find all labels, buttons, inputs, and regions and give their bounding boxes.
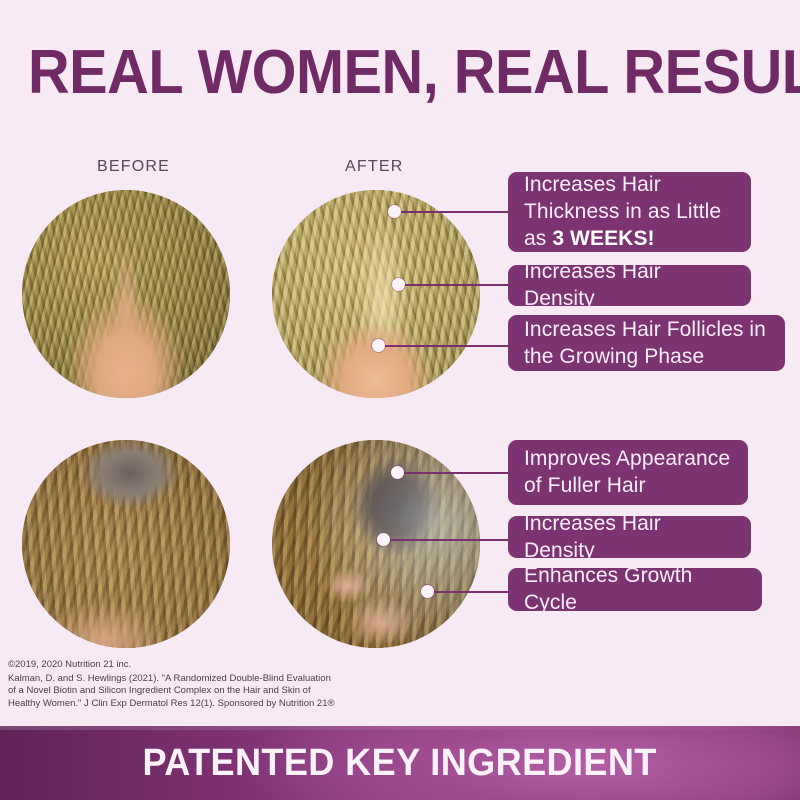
page-title: REAL WOMEN, REAL RESULTS! bbox=[28, 40, 772, 106]
callout-bottom-1[interactable]: Improves Appearance of Fuller Hair bbox=[508, 440, 748, 505]
hair-texture bbox=[22, 190, 230, 398]
footnote-line-2: Kalman, D. and S. Hewlings (2021). "A Ra… bbox=[8, 673, 428, 686]
footnote-line-4: Healthy Women." J Clin Exp Dermatol Res … bbox=[8, 698, 428, 711]
footnote-line-3: of a Novel Biotin and Silicon Ingredient… bbox=[8, 685, 428, 698]
connector-line-1 bbox=[396, 211, 510, 213]
hair-texture bbox=[22, 440, 230, 648]
footnote-citation: ©2019, 2020 Nutrition 21 inc. Kalman, D.… bbox=[8, 659, 428, 710]
connector-line-4 bbox=[399, 472, 510, 474]
hair-texture bbox=[272, 190, 480, 398]
callout-text: Enhances Growth Cycle bbox=[524, 562, 746, 616]
callout-text: Increases Hair Density bbox=[524, 510, 735, 564]
banner-text: PATENTED KEY INGREDIENT bbox=[143, 742, 657, 785]
bottom-banner: PATENTED KEY INGREDIENT bbox=[0, 726, 800, 800]
photo-after-top bbox=[272, 190, 480, 398]
promo-graphic: REAL WOMEN, REAL RESULTS! BEFORE AFTER I… bbox=[0, 0, 800, 800]
connector-dot-2 bbox=[392, 278, 405, 291]
connector-dot-1 bbox=[388, 205, 401, 218]
connector-line-2 bbox=[400, 284, 510, 286]
connector-dot-3 bbox=[372, 339, 385, 352]
photo-before-top bbox=[22, 190, 230, 398]
callout-top-2[interactable]: Increases Hair Density bbox=[508, 265, 751, 306]
callout-text: Increases Hair Follicles in the Growing … bbox=[524, 316, 769, 370]
callout-bottom-2[interactable]: Increases Hair Density bbox=[508, 516, 751, 558]
callout-text: Increases Hair Thickness in as Little as… bbox=[524, 171, 735, 252]
label-after: AFTER bbox=[345, 158, 403, 176]
connector-line-5 bbox=[385, 539, 510, 541]
photo-before-bottom bbox=[22, 440, 230, 648]
banner-top-sheen bbox=[0, 726, 800, 730]
connector-line-6 bbox=[429, 591, 510, 593]
callout-top-1[interactable]: Increases Hair Thickness in as Little as… bbox=[508, 172, 751, 252]
connector-line-3 bbox=[380, 345, 510, 347]
callout-bottom-3[interactable]: Enhances Growth Cycle bbox=[508, 568, 762, 611]
callout-text: Increases Hair Density bbox=[524, 258, 735, 312]
connector-dot-5 bbox=[377, 533, 390, 546]
label-before: BEFORE bbox=[97, 158, 170, 176]
footnote-copyright: ©2019, 2020 Nutrition 21 inc. bbox=[8, 659, 428, 672]
connector-dot-4 bbox=[391, 466, 404, 479]
callout-top-3[interactable]: Increases Hair Follicles in the Growing … bbox=[508, 315, 785, 371]
connector-dot-6 bbox=[421, 585, 434, 598]
callout-text: Improves Appearance of Fuller Hair bbox=[524, 445, 732, 499]
